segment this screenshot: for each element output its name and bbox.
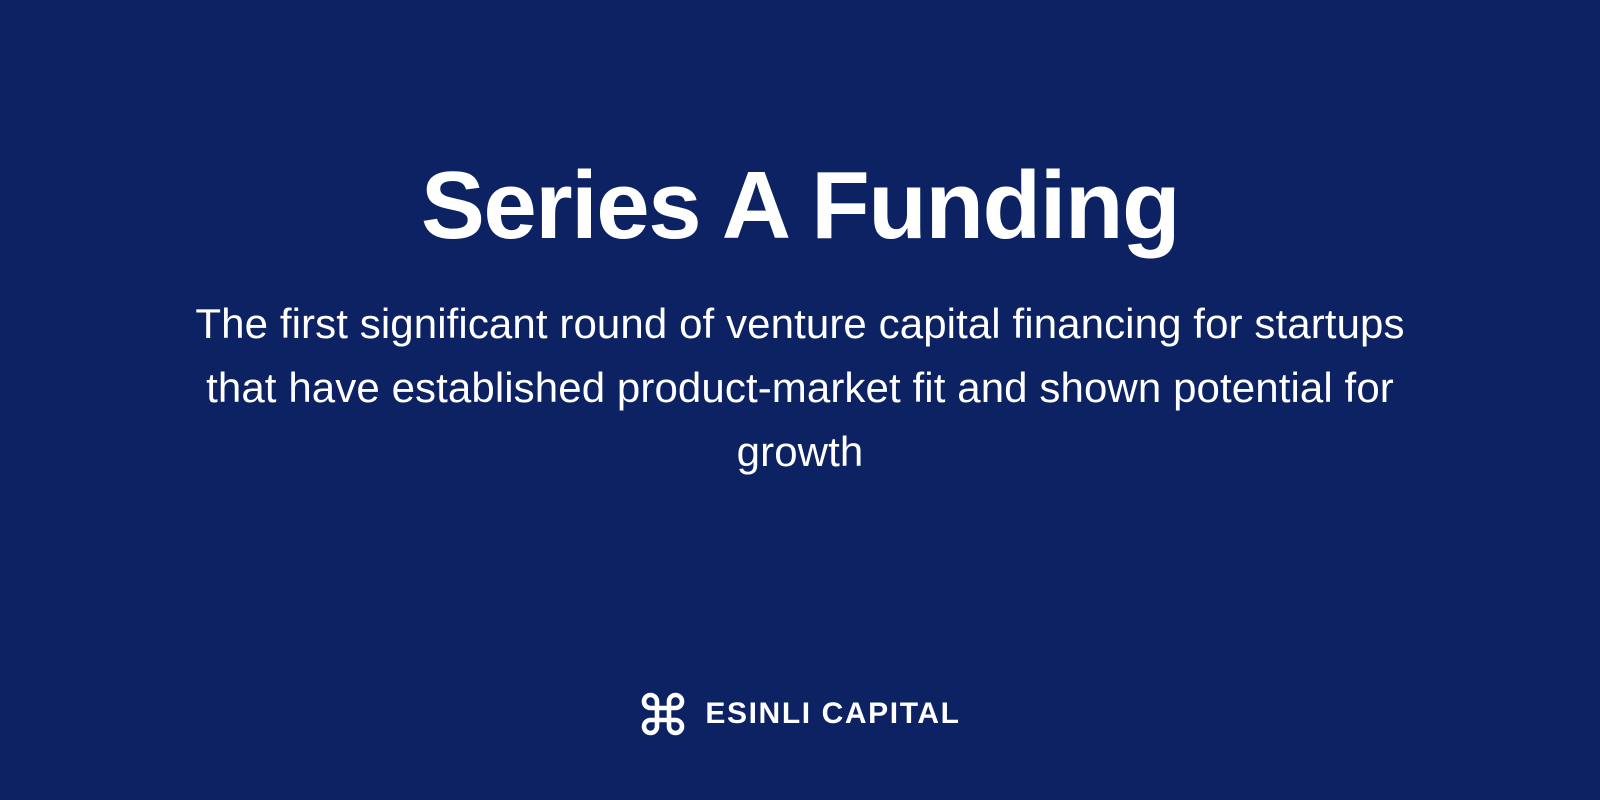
card-content: Series A Funding The first significant r… (0, 0, 1600, 640)
definition-card: Series A Funding The first significant r… (0, 0, 1600, 800)
brand-logo-lockup: ESINLI CAPITAL (0, 689, 1600, 738)
page-title: Series A Funding (421, 156, 1179, 257)
command-icon (639, 690, 687, 738)
card-description: The first significant round of venture c… (195, 292, 1405, 484)
brand-name: ESINLI CAPITAL (705, 699, 960, 729)
